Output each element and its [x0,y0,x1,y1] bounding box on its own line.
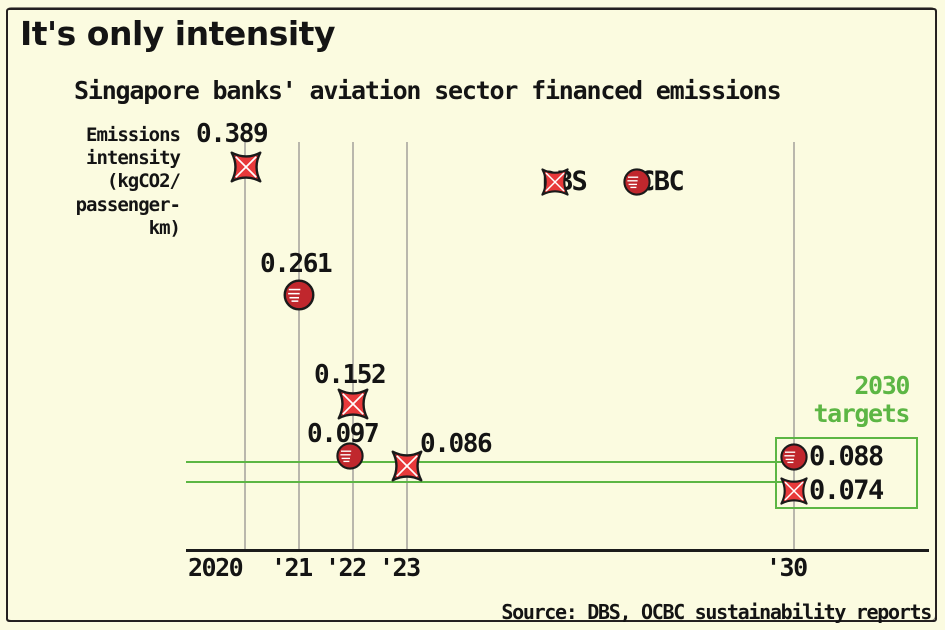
gridline-2022 [352,142,354,550]
data-label-ocbc-2021: 0.261 [260,249,331,279]
dbs-star-icon [779,476,809,506]
gridline-2023 [406,142,408,550]
ocbc-circle-icon [779,442,809,472]
data-point-dbs-2023[interactable] [390,449,424,483]
target-row-dbs[interactable]: 0.074 [779,475,883,506]
source-note: Source: DBS, OCBC sustainability reports [501,600,931,624]
data-point-ocbc-2021[interactable] [282,278,316,312]
data-label-dbs-2020: 0.389 [196,119,267,149]
data-point-ocbc-2022[interactable] [335,441,365,471]
gridline-2021 [298,142,300,550]
target-value-ocbc: 0.088 [809,441,883,472]
x-tick-2030: '30 [766,553,807,582]
chart-subtitle: Singapore banks' aviation sector finance… [74,76,780,105]
legend-item-ocbc[interactable]: OCBC [622,166,683,197]
x-tick-2023: '23 [379,553,420,582]
x-tick-2020: 2020 [188,553,242,582]
targets-heading-word: targets [813,399,909,428]
x-tick-2022: '22 [325,553,366,582]
legend: DBS OCBC [540,166,683,197]
ocbc-circle-icon [622,167,652,197]
data-point-dbs-2020[interactable] [229,150,263,184]
y-axis-label: Emissionsintensity(kgCO2/passenger-km) [20,124,180,240]
x-axis-line [186,549,929,552]
data-label-dbs-2022: 0.152 [314,360,385,390]
dbs-star-icon [540,167,570,197]
target-value-dbs: 0.074 [809,475,883,506]
chart-canvas: It's only intensity Singapore banks' avi… [0,0,945,630]
legend-item-dbs[interactable]: DBS [540,166,586,197]
target-line-ocbc [186,461,800,463]
data-label-dbs-2023: 0.086 [420,429,491,459]
data-point-dbs-2022[interactable] [336,387,370,421]
chart-title: It's only intensity [20,14,335,53]
x-tick-2021: '21 [271,553,312,582]
targets-heading-year: 2030 [854,371,909,400]
targets-heading: 2030targets [813,372,909,428]
gridline-2020 [244,142,246,550]
target-row-ocbc[interactable]: 0.088 [779,441,883,472]
target-line-dbs [186,481,800,483]
